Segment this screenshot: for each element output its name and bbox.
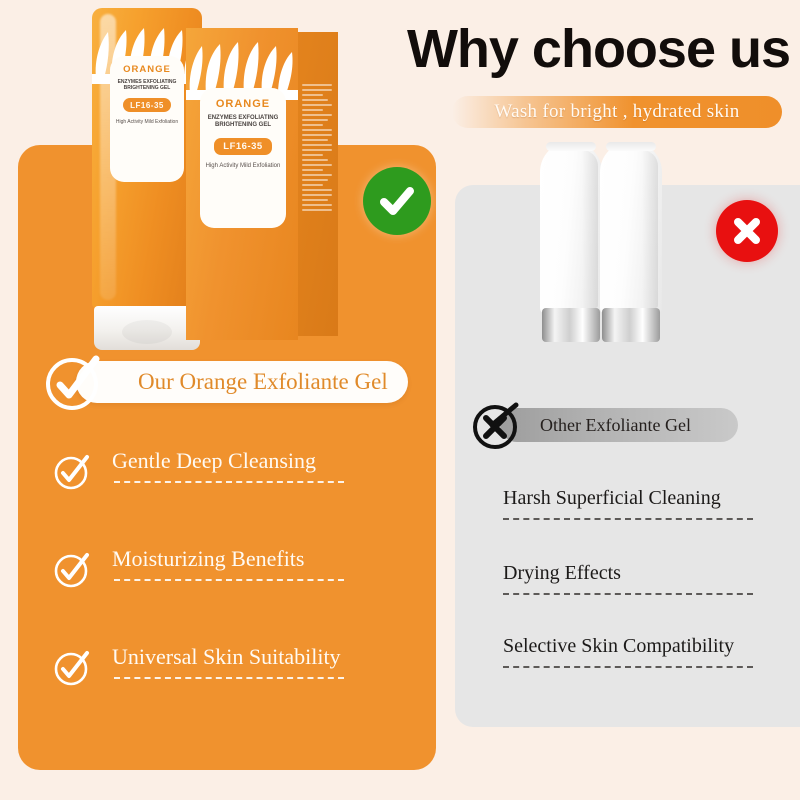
feature-item: Universal Skin Suitability (52, 644, 402, 700)
circled-check-icon (52, 550, 92, 590)
white-tube-product (540, 142, 602, 342)
feature-label: Universal Skin Suitability (112, 644, 341, 670)
feature-underline (114, 481, 344, 483)
white-tube-cap (542, 308, 600, 342)
tube-label: ORANGE ENZYMES EXFOLIATING BRIGHTENING G… (110, 56, 184, 182)
approved-badge (363, 167, 431, 235)
rejected-badge (716, 200, 778, 262)
drawback-underline (503, 518, 753, 520)
infographic-canvas: Why choose us Wash for bright , hydrated… (0, 0, 800, 800)
tube-code: LF16-35 (123, 98, 171, 112)
drawback-label: Harsh Superficial Cleaning (503, 487, 721, 510)
drawback-item: Selective Skin Compatibility (503, 635, 793, 685)
feature-item: Moisturizing Benefits (52, 546, 402, 602)
drawback-item: Drying Effects (503, 562, 793, 612)
drawback-underline (503, 666, 753, 668)
box-brand: ORANGE (216, 98, 270, 110)
white-tube-seam (546, 142, 596, 151)
orange-box-product: ORANGE ENZYMES EXFOLIATING BRIGHTENING G… (186, 28, 338, 340)
box-front-face: ORANGE ENZYMES EXFOLIATING BRIGHTENING G… (186, 28, 298, 340)
box-code: LF16-35 (214, 138, 272, 155)
cross-mark-icon (728, 212, 766, 250)
box-claim: High Activity Mild Exfoliation (206, 163, 281, 171)
subtitle-pill: Wash for bright , hydrated skin (452, 96, 782, 128)
check-mark-icon (375, 179, 419, 223)
drawback-label: Selective Skin Compatibility (503, 635, 734, 658)
white-tube-shading (582, 150, 598, 308)
tube-cap (94, 306, 200, 350)
drawback-label: Drying Effects (503, 562, 621, 585)
circled-check-icon (44, 352, 104, 412)
white-tube-cap (602, 308, 660, 342)
drawback-underline (503, 593, 753, 595)
page-title: Why choose us (370, 18, 790, 80)
left-heading-text: Our Orange Exfoliante Gel (138, 369, 388, 395)
feature-label: Gentle Deep Cleansing (112, 448, 316, 474)
circled-cross-icon (470, 399, 522, 451)
feature-underline (114, 579, 344, 581)
feature-label: Moisturizing Benefits (112, 546, 304, 572)
circled-check-icon (52, 452, 92, 492)
right-heading-pill: Other Exfoliante Gel (500, 408, 738, 442)
feature-underline (114, 677, 344, 679)
subtitle-text: Wash for bright , hydrated skin (494, 101, 739, 123)
feature-item: Gentle Deep Cleansing (52, 448, 402, 504)
drawback-item: Harsh Superficial Cleaning (503, 487, 793, 537)
box-ingredient-fineprint (302, 84, 332, 214)
white-tube-shading (642, 150, 658, 308)
left-heading-pill: Our Orange Exfoliante Gel (76, 361, 408, 403)
tube-description: ENZYMES EXFOLIATING BRIGHTENING GEL (110, 79, 184, 91)
box-description: ENZYMES EXFOLIATING BRIGHTENING GEL (200, 115, 286, 130)
circled-check-icon (52, 648, 92, 688)
white-tube-seam (606, 142, 656, 151)
right-heading-text: Other Exfoliante Gel (540, 415, 691, 436)
white-tube-product (600, 142, 662, 342)
box-label: ORANGE ENZYMES EXFOLIATING BRIGHTENING G… (200, 88, 286, 228)
tube-brand: ORANGE (123, 64, 171, 75)
tube-claim: High Activity Mild Exfoliation (116, 119, 178, 125)
